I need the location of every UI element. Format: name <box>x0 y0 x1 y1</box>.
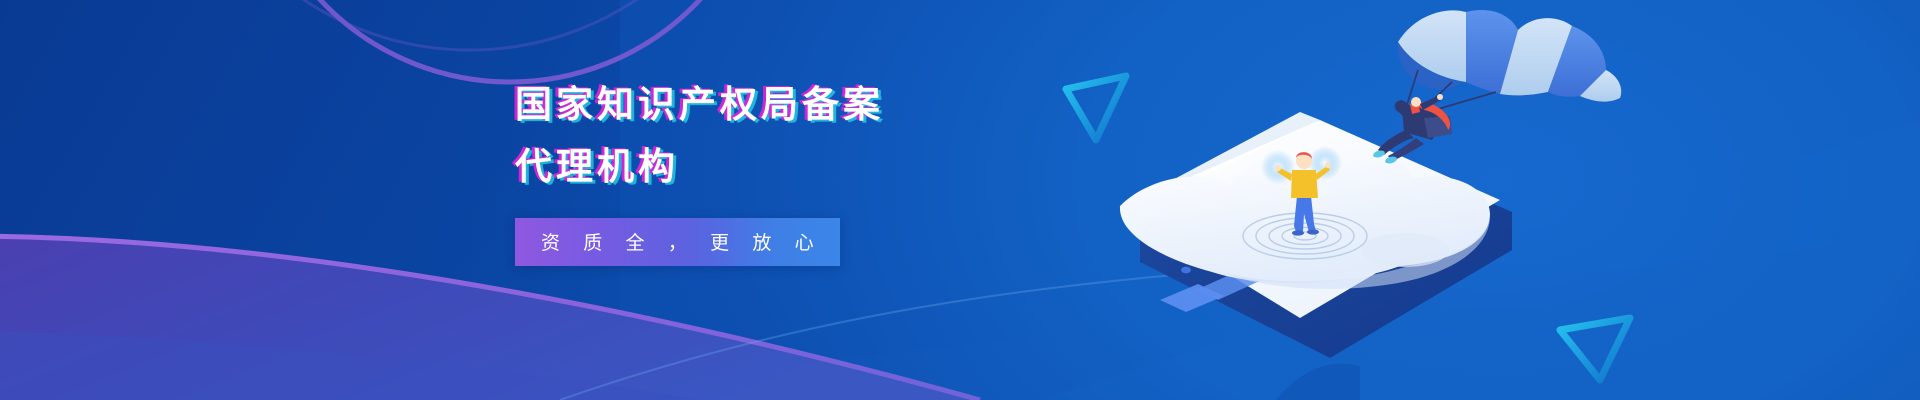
tagline-text: 资 质 全 ， 更 放 心 <box>541 233 823 254</box>
tagline-badge: 资 质 全 ， 更 放 心 <box>515 218 840 266</box>
circle-arc-top-secondary <box>170 0 770 50</box>
banner-copy: 国家知识产权局备案 代理机构 资 质 全 ， 更 放 心 <box>515 78 1135 266</box>
headline-line-1: 国家知识产权局备案 <box>515 78 1135 131</box>
parachutist-figure <box>1372 10 1621 165</box>
circle-arc-top <box>250 0 770 82</box>
parachutist-head <box>1411 97 1421 107</box>
figure-shirt <box>1291 170 1318 198</box>
headline-line-2: 代理机构 <box>515 140 1135 193</box>
promo-banner: 国家知识产权局备案 代理机构 资 质 全 ， 更 放 心 <box>0 0 1920 400</box>
